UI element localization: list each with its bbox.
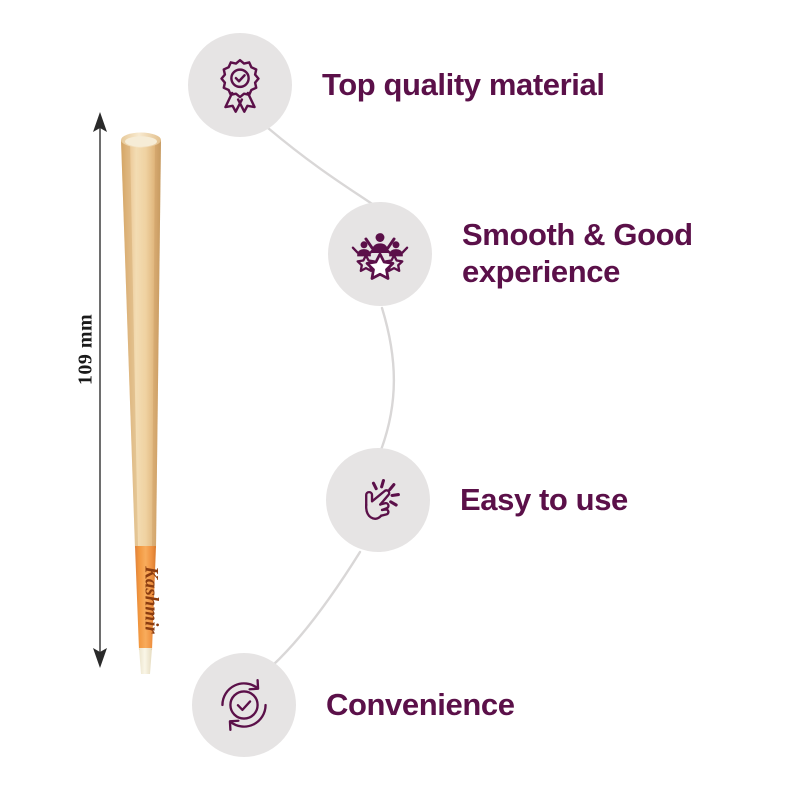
feature-item-top-quality-material[interactable]: Top quality material [188,33,605,137]
people-celebrating-stars-icon [349,223,411,285]
feature-icon-circle [188,33,292,137]
feature-label: Easy to use [460,482,628,519]
product-infographic: 109 mm [0,0,800,800]
feature-label: Convenience [326,687,515,724]
feature-icon-circle [192,653,296,757]
circular-arrows-check-icon [214,675,274,735]
brand-label: Kashmir [141,565,162,634]
feature-label: Smooth & Good experience [462,217,693,290]
feature-label: Top quality material [322,67,605,104]
feature-item-easy-to-use[interactable]: Easy to use [326,448,628,552]
award-ribbon-check-icon [210,55,270,115]
product-image: Kashmir [100,118,230,678]
feature-icon-circle [326,448,430,552]
feature-item-smooth-good-experience[interactable]: Smooth & Good experience [328,202,693,306]
feature-item-convenience[interactable]: Convenience [192,653,515,757]
tapping-hand-icon [349,471,407,529]
feature-icon-circle [328,202,432,306]
paper-cone-illustration: Kashmir [100,118,230,678]
dimension-label: 109 mm [75,290,98,410]
